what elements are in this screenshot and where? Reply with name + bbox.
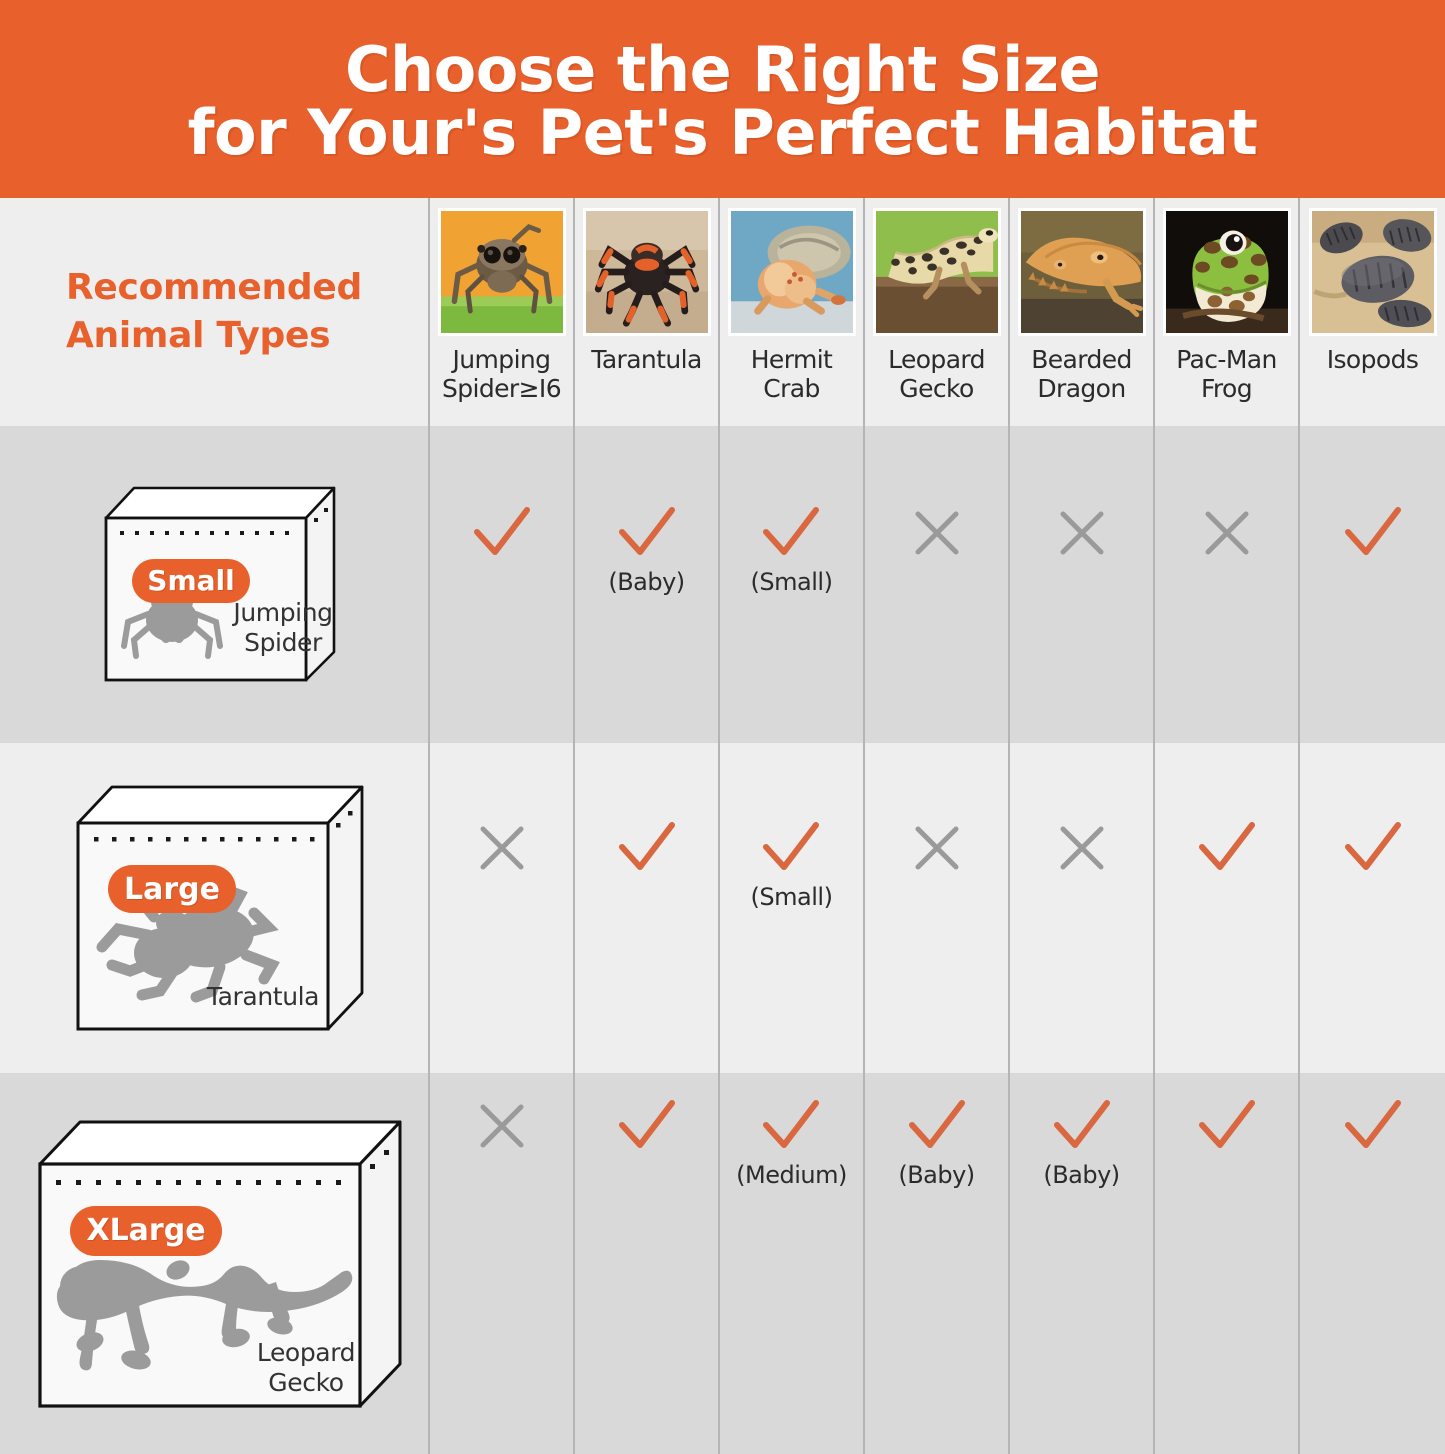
check-icon <box>904 1097 970 1155</box>
banner-title-line-1: Choose the Right Size <box>345 38 1100 101</box>
cross-icon <box>473 1099 531 1153</box>
cell-large-tarantula <box>575 743 720 1073</box>
tarantula-photo <box>583 208 711 336</box>
column-header-leopard-gecko: Leopard Gecko <box>865 198 1010 426</box>
bearded-dragon-photo <box>1018 208 1146 336</box>
cell-large-bearded-dragon <box>1010 743 1155 1073</box>
small-box-animal-line-1: Jumping <box>228 598 338 628</box>
check-icon <box>1194 819 1260 877</box>
cell-small-pac-man-frog <box>1155 426 1300 743</box>
cell-note: (Baby) <box>1043 1161 1119 1189</box>
small-box-animal-line-2: Spider <box>228 628 338 658</box>
cross-icon <box>473 821 531 875</box>
size-badge-xlarge: XLarge <box>70 1206 222 1256</box>
cell-small-jumping-spider <box>430 426 575 743</box>
jumping-spider-name-line-2: Spider≥I6 <box>442 374 561 403</box>
xlarge-box-animal-line-1: Leopard <box>246 1338 366 1368</box>
cell-small-bearded-dragon <box>1010 426 1155 743</box>
cell-note: (Baby) <box>608 568 684 596</box>
bearded-dragon-name-line-2: Dragon <box>1031 374 1132 403</box>
header-banner: Choose the Right Size for Your's Pet's P… <box>0 0 1445 198</box>
cell-small-isopods <box>1300 426 1445 743</box>
cross-icon <box>1053 506 1111 560</box>
small-box-animal-label: Jumping Spider <box>228 598 338 658</box>
cell-note: (Medium) <box>736 1161 847 1189</box>
check-icon <box>1194 1097 1260 1155</box>
corner-title-line-1: Recommended <box>66 264 428 312</box>
check-icon <box>614 1097 680 1155</box>
check-icon <box>758 504 824 562</box>
large-box-illustration: Large Tarantula <box>68 777 368 1039</box>
check-icon <box>1049 1097 1115 1155</box>
comparison-table: Recommended Animal Types <box>0 198 1445 1454</box>
hermit-crab-photo <box>728 208 856 336</box>
column-header-jumping-spider: Jumping Spider≥I6 <box>430 198 575 426</box>
column-header-label-hermit-crab: Hermit Crab <box>749 345 835 403</box>
column-header-label-jumping-spider: Jumping Spider≥I6 <box>440 345 563 403</box>
cell-xlarge-leopard-gecko: (Baby) <box>865 1073 1010 1454</box>
cell-xlarge-isopods <box>1300 1073 1445 1454</box>
row-label-xlarge: XLarge Leopard Gecko <box>0 1073 430 1454</box>
small-box-illustration: Small Jumping Spider <box>98 480 338 690</box>
large-box-animal-line-1: Tarantula <box>198 982 328 1012</box>
cell-xlarge-jumping-spider <box>430 1073 575 1454</box>
pac-man-frog-name-line-1: Pac-Man <box>1176 345 1277 374</box>
jumping-spider-photo <box>438 208 566 336</box>
size-badge-small: Small <box>132 559 250 603</box>
check-icon <box>1340 1097 1406 1155</box>
column-header-label-leopard-gecko: Leopard Gecko <box>886 345 987 403</box>
isopods-photo <box>1309 208 1437 336</box>
cell-note: (Small) <box>751 568 833 596</box>
xlarge-box-animal-label: Leopard Gecko <box>246 1338 366 1398</box>
column-header-label-bearded-dragon: Bearded Dragon <box>1029 345 1134 403</box>
jumping-spider-name-line-1: Jumping <box>442 345 561 374</box>
column-header-hermit-crab: Hermit Crab <box>720 198 865 426</box>
column-header-pac-man-frog: Pac-Man Frog <box>1155 198 1300 426</box>
column-header-isopods: Isopods <box>1300 198 1445 426</box>
cell-xlarge-hermit-crab: (Medium) <box>720 1073 865 1454</box>
corner-title-line-2: Animal Types <box>66 312 428 360</box>
xlarge-box-animal-line-2: Gecko <box>246 1368 366 1398</box>
row-label-small: Small Jumping Spider <box>0 426 430 743</box>
banner-title-line-2: for Your's Pet's Perfect Habitat <box>188 101 1258 164</box>
cross-icon <box>1053 821 1111 875</box>
tarantula-name-line-1: Tarantula <box>591 345 701 374</box>
leopard-gecko-name-line-1: Leopard <box>888 345 985 374</box>
leopard-gecko-name-line-2: Gecko <box>888 374 985 403</box>
cell-small-leopard-gecko <box>865 426 1010 743</box>
cell-small-tarantula: (Baby) <box>575 426 720 743</box>
check-icon <box>614 819 680 877</box>
column-header-label-pac-man-frog: Pac-Man Frog <box>1174 345 1279 403</box>
cell-small-hermit-crab: (Small) <box>720 426 865 743</box>
xlarge-box-illustration: XLarge Leopard Gecko <box>28 1110 408 1418</box>
table-corner-header: Recommended Animal Types <box>0 198 430 426</box>
hermit-crab-name-line-2: Crab <box>751 374 833 403</box>
cell-note: (Baby) <box>898 1161 974 1189</box>
check-icon <box>758 1097 824 1155</box>
pac-man-frog-photo <box>1163 208 1291 336</box>
size-badge-large: Large <box>108 865 236 913</box>
check-icon <box>1340 819 1406 877</box>
large-box-animal-label: Tarantula <box>198 982 328 1012</box>
cross-icon <box>908 821 966 875</box>
check-icon <box>614 504 680 562</box>
cell-note: (Small) <box>751 883 833 911</box>
hermit-crab-name-line-1: Hermit <box>751 345 833 374</box>
column-header-tarantula: Tarantula <box>575 198 720 426</box>
cross-icon <box>908 506 966 560</box>
cell-xlarge-bearded-dragon: (Baby) <box>1010 1073 1155 1454</box>
cell-large-isopods <box>1300 743 1445 1073</box>
check-icon <box>469 504 535 562</box>
check-icon <box>1340 504 1406 562</box>
check-icon <box>758 819 824 877</box>
cell-xlarge-pac-man-frog <box>1155 1073 1300 1454</box>
row-label-large: Large Tarantula <box>0 743 430 1073</box>
column-header-bearded-dragon: Bearded Dragon <box>1010 198 1155 426</box>
leopard-gecko-photo <box>873 208 1001 336</box>
cell-large-jumping-spider <box>430 743 575 1073</box>
isopods-name-line-1: Isopods <box>1327 345 1419 374</box>
cell-xlarge-tarantula <box>575 1073 720 1454</box>
comparison-chart-page: Choose the Right Size for Your's Pet's P… <box>0 0 1445 1454</box>
cell-large-pac-man-frog <box>1155 743 1300 1073</box>
cross-icon <box>1198 506 1256 560</box>
cell-large-hermit-crab: (Small) <box>720 743 865 1073</box>
bearded-dragon-name-line-1: Bearded <box>1031 345 1132 374</box>
column-header-label-tarantula: Tarantula <box>589 345 703 374</box>
pac-man-frog-name-line-2: Frog <box>1176 374 1277 403</box>
cell-large-leopard-gecko <box>865 743 1010 1073</box>
column-header-label-isopods: Isopods <box>1325 345 1421 374</box>
